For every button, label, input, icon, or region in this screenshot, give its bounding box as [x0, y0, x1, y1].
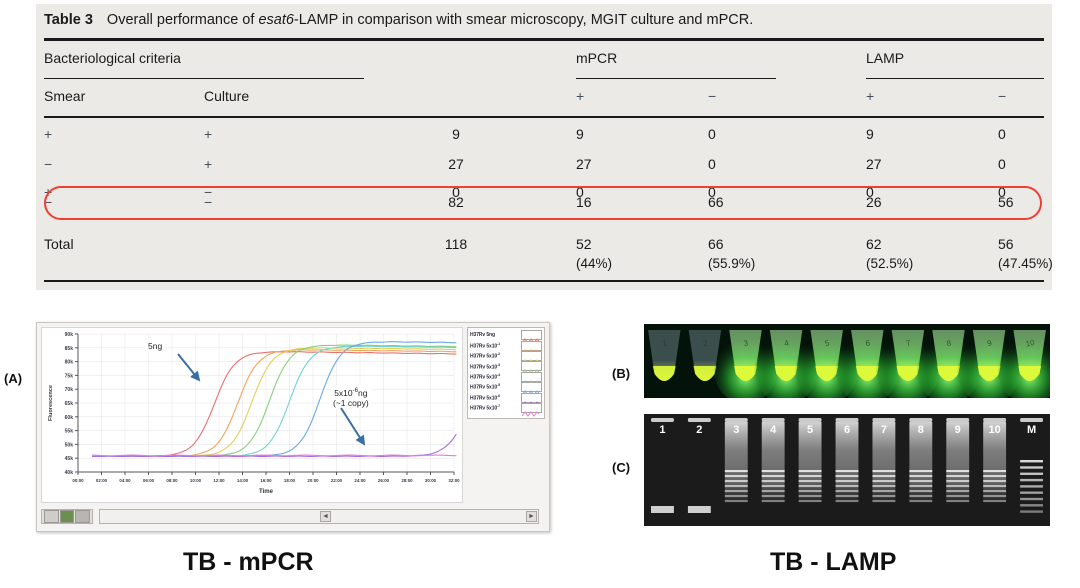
lamp-fluorescence-tubes-image: 12345678910: [644, 324, 1050, 398]
gel-lane-label: 4: [770, 424, 777, 436]
primer-band: [651, 506, 674, 513]
legend-label: H37Rv 5x10-6: [470, 394, 500, 402]
gel-band: [725, 480, 748, 482]
table-bottom-rule: [44, 280, 1044, 282]
cell-total: 9: [436, 126, 476, 142]
legend-item[interactable]: H37Rv 5x10-2: [470, 351, 542, 361]
gel-band: [799, 500, 822, 502]
gel-band: [762, 470, 785, 472]
legend-item[interactable]: H37Rv 5x10-7: [470, 403, 542, 413]
panel-c-label: (C): [612, 460, 630, 475]
gel-band: [946, 490, 969, 492]
total-lamp-positive-percent: (52.5%): [866, 256, 926, 271]
y-tick-label: 40k: [65, 470, 74, 476]
gel-band: [799, 485, 822, 487]
chart-horizontal-scrollbar[interactable]: ◄ ►: [99, 509, 539, 524]
column-header-lamp-positive: +: [866, 88, 926, 104]
caption-right-tb-lamp: TB - LAMP: [770, 548, 896, 577]
cell-total: 82: [436, 194, 476, 210]
panel-b-label: (B): [612, 366, 630, 381]
gel-band: [836, 495, 859, 497]
scrollbar-left-arrow[interactable]: ◄: [320, 511, 331, 522]
gel-well: [762, 418, 785, 422]
high-concentration-annotation: 5ng: [145, 340, 165, 352]
legend-label: H37Rv 5x10-4: [470, 373, 500, 381]
gel-band: [762, 495, 785, 497]
column-header-culture: Culture: [204, 88, 249, 104]
x-tick-label: 16:00: [260, 478, 272, 483]
gel-band: [909, 485, 932, 487]
legend-label: H37Rv 5ng: [470, 332, 495, 338]
ladder-band: [1020, 498, 1043, 500]
mpcr-group-rule: [576, 78, 776, 79]
panel-a-label: (A): [4, 371, 22, 386]
bacteriological-group-rule: [44, 78, 364, 79]
x-tick-label: 00:00: [72, 478, 84, 483]
ladder-band: [1020, 485, 1043, 487]
total-mpcr-positive-percent: (44%): [576, 256, 636, 271]
gel-band: [872, 495, 895, 497]
total-mpcr-positive: 52: [576, 236, 636, 252]
amplification-curves-svg: 40k45k50k55k60k65k70k75k80k85k90k00:0002…: [42, 328, 462, 502]
gel-band: [983, 485, 1006, 487]
column-header-mpcr-positive: +: [576, 88, 636, 104]
table-row-highlighted: − − 82 16 66 26 56: [36, 194, 1052, 220]
gel-well: [725, 418, 748, 422]
annotation-copy-line2: (~1 copy): [333, 398, 369, 408]
total-mpcr-negative-percent: (55.9%): [708, 256, 768, 271]
cursor-tool-icon[interactable]: [44, 510, 59, 523]
gel-band: [983, 480, 1006, 482]
gel-band: [872, 475, 895, 477]
single-copy-annotation: 5x10-6ng (~1 copy): [330, 385, 372, 409]
legend-color-swatch: [521, 403, 542, 413]
cell-mpcr-positive: 16: [576, 194, 636, 210]
gel-band: [946, 495, 969, 497]
total-lamp-positive: 62: [866, 236, 926, 252]
gel-band: [946, 475, 969, 477]
x-tick-label: 14:00: [237, 478, 249, 483]
chart-toolbar: ◄ ►: [41, 509, 547, 527]
gel-band: [762, 490, 785, 492]
amplification-curve: [92, 455, 456, 456]
gel-lane-label: 2: [696, 424, 702, 436]
cell-culture: +: [204, 156, 212, 172]
zoom-tool-icon[interactable]: [60, 510, 75, 523]
legend-item[interactable]: H37Rv 5x10-1: [470, 340, 542, 350]
x-tick-label: 30:00: [425, 478, 437, 483]
gel-lane-label: 1: [659, 424, 665, 436]
chart-tool-group[interactable]: [41, 509, 93, 524]
ladder-band: [1020, 473, 1043, 475]
total-count: 118: [436, 236, 476, 252]
legend-item[interactable]: H37Rv 5ng: [470, 330, 542, 340]
gel-well: [799, 418, 822, 422]
total-label: Total: [44, 236, 74, 252]
gel-well: [946, 418, 969, 422]
x-tick-label: 10:00: [190, 478, 202, 483]
gel-band: [909, 500, 932, 502]
legend-color-swatch: [521, 382, 542, 392]
group-header-mpcr: mPCR: [576, 50, 617, 66]
gel-band: [983, 475, 1006, 477]
gel-band: [762, 480, 785, 482]
x-tick-label: 24:00: [354, 478, 366, 483]
chart-legend: H37Rv 5ngH37Rv 5x10-1H37Rv 5x10-2H37Rv 5…: [467, 327, 545, 419]
cell-mpcr-negative: 0: [708, 126, 768, 142]
y-tick-label: 75k: [65, 373, 74, 379]
gel-band: [836, 470, 859, 472]
group-header-bacteriological: Bacteriological criteria: [44, 50, 181, 66]
y-tick-label: 55k: [65, 429, 74, 435]
y-tick-label: 70k: [65, 387, 74, 393]
cell-smear: +: [44, 126, 52, 142]
gel-band: [762, 485, 785, 487]
gel-band: [725, 500, 748, 502]
caption-italic-gene: esat6: [258, 12, 293, 28]
header-bottom-rule: [44, 116, 1044, 118]
caption-left-tb-mpcr: TB - mPCR: [183, 548, 314, 577]
gel-band: [725, 470, 748, 472]
gel-band: [946, 480, 969, 482]
gel-band: [725, 475, 748, 477]
agarose-gel-image: 12345678910M: [644, 414, 1050, 526]
ladder-band: [1020, 510, 1043, 512]
lamp-group-rule: [866, 78, 1044, 79]
ladder-band: [1020, 460, 1043, 462]
legend-color-swatch: [521, 330, 542, 340]
x-tick-label: 06:00: [143, 478, 155, 483]
total-lamp-negative-percent: (47.45%): [998, 256, 1058, 271]
legend-color-swatch: [521, 372, 542, 382]
table-row: − + 27 27 0 27 0: [36, 156, 1052, 182]
gel-band: [836, 485, 859, 487]
gel-band: [983, 500, 1006, 502]
gel-band: [872, 485, 895, 487]
y-tick-label: 90k: [65, 332, 74, 338]
gel-band: [836, 475, 859, 477]
y-tick-label: 60k: [65, 415, 74, 421]
legend-item[interactable]: H37Rv 5x10-4: [470, 372, 542, 382]
cell-culture: −: [204, 194, 212, 210]
legend-label: H37Rv 5x10-3: [470, 363, 500, 371]
table-number: Table 3: [44, 12, 93, 28]
cell-total: 27: [436, 156, 476, 172]
ladder-band: [1020, 504, 1043, 506]
cell-mpcr-negative: 0: [708, 156, 768, 172]
gel-well: [909, 418, 932, 422]
cell-lamp-positive: 9: [866, 126, 926, 142]
legend-label: H37Rv 5x10-7: [470, 404, 500, 412]
ladder-band: [1020, 492, 1043, 494]
total-mpcr-negative: 66: [708, 236, 768, 252]
y-tick-label: 65k: [65, 401, 74, 407]
gel-well: [872, 418, 895, 422]
caption-text-part1: Overall performance of: [107, 12, 259, 28]
gel-band: [799, 480, 822, 482]
gel-band: [799, 470, 822, 472]
gel-band: [946, 485, 969, 487]
y-tick-label: 45k: [65, 456, 74, 462]
y-tick-label: 80k: [65, 360, 74, 366]
legend-label: H37Rv 5x10-1: [470, 342, 500, 350]
ladder-band: [1020, 479, 1043, 481]
legend-color-swatch: [521, 341, 542, 351]
gel-lane-label: 6: [844, 424, 850, 436]
total-lamp-negative: 56: [998, 236, 1058, 252]
gel-band: [762, 475, 785, 477]
gel-band: [909, 470, 932, 472]
caption-text-part2: -LAMP in comparison with smear microscop…: [294, 12, 753, 28]
cell-mpcr-positive: 27: [576, 156, 636, 172]
gel-band: [872, 490, 895, 492]
qpcr-chart-window: 40k45k50k55k60k65k70k75k80k85k90k00:0002…: [36, 322, 550, 532]
table-top-rule: [44, 38, 1044, 41]
gel-band: [725, 495, 748, 497]
gel-lane-label: 8: [918, 424, 924, 436]
cell-lamp-negative: 56: [998, 194, 1058, 210]
column-header-smear: Smear: [44, 88, 85, 104]
legend-color-swatch: [521, 351, 542, 361]
cell-culture: +: [204, 126, 212, 142]
y-tick-label: 50k: [65, 442, 74, 448]
y-tick-label: 85k: [65, 346, 74, 352]
table-row: + + 9 9 0 9 0: [36, 126, 1052, 152]
gel-band: [799, 495, 822, 497]
annotation-copy-line1: 5x10-6ng: [333, 386, 369, 398]
legend-label: H37Rv 5x10-5: [470, 383, 500, 391]
tubes-svg: 12345678910: [644, 324, 1050, 398]
gel-band: [909, 495, 932, 497]
column-header-mpcr-negative: −: [708, 88, 768, 104]
x-tick-label: 02:00: [96, 478, 108, 483]
legend-item[interactable]: H37Rv 5x10-5: [470, 382, 542, 392]
cell-smear: −: [44, 194, 52, 210]
gel-band: [983, 470, 1006, 472]
x-tick-label: 20:00: [307, 478, 319, 483]
gel-band: [983, 490, 1006, 492]
x-tick-label: 28:00: [401, 478, 413, 483]
group-header-lamp: LAMP: [866, 50, 904, 66]
gel-band: [836, 490, 859, 492]
cell-lamp-positive: 26: [866, 194, 926, 210]
gel-band: [836, 500, 859, 502]
table-caption: Table 3 Overall performance of esat6-LAM…: [44, 12, 1044, 28]
cell-lamp-negative: 0: [998, 156, 1058, 172]
cell-smear: −: [44, 156, 52, 172]
gel-band: [872, 470, 895, 472]
gel-band: [836, 480, 859, 482]
x-tick-label: 04:00: [119, 478, 131, 483]
pan-tool-icon[interactable]: [75, 510, 90, 523]
gel-well: [983, 418, 1006, 422]
x-tick-label: 32:00: [448, 478, 460, 483]
gel-lane-label: 9: [955, 424, 961, 436]
x-tick-label: 12:00: [213, 478, 225, 483]
gel-band: [909, 490, 932, 492]
gel-band: [799, 475, 822, 477]
gel-lane-label: 3: [733, 424, 739, 436]
primer-band: [688, 506, 711, 513]
legend-color-swatch: [521, 361, 542, 371]
x-tick-label: 08:00: [166, 478, 178, 483]
gel-band: [872, 480, 895, 482]
gel-band: [909, 475, 932, 477]
annotation-5ng-text: 5ng: [148, 341, 162, 351]
legend-color-swatch: [521, 393, 542, 403]
gel-lane-label: 10: [989, 424, 1001, 436]
cell-mpcr-negative: 66: [708, 194, 768, 210]
gel-well: [651, 418, 674, 422]
gel-well: [836, 418, 859, 422]
x-tick-label: 18:00: [284, 478, 296, 483]
cell-lamp-positive: 27: [866, 156, 926, 172]
gel-lane-label: 5: [807, 424, 813, 436]
x-axis-label: Time: [259, 489, 274, 495]
table-3-container: Table 3 Overall performance of esat6-LAM…: [36, 4, 1052, 290]
gel-band: [946, 500, 969, 502]
x-tick-label: 22:00: [331, 478, 343, 483]
gel-band: [762, 500, 785, 502]
legend-item[interactable]: H37Rv 5x10-6: [470, 392, 542, 402]
column-header-lamp-negative: −: [998, 88, 1058, 104]
y-axis-label: Fluorescence: [48, 385, 54, 421]
legend-item[interactable]: H37Rv 5x10-3: [470, 361, 542, 371]
gel-lane-label: 7: [881, 424, 887, 436]
gel-lane-label: M: [1027, 424, 1036, 436]
gel-band: [725, 490, 748, 492]
cell-mpcr-positive: 9: [576, 126, 636, 142]
legend-label: H37Rv 5x10-2: [470, 352, 500, 360]
gel-band: [799, 490, 822, 492]
gel-band: [725, 485, 748, 487]
gel-band: [872, 500, 895, 502]
ladder-band: [1020, 466, 1043, 468]
scrollbar-right-arrow[interactable]: ►: [526, 511, 537, 522]
cell-lamp-negative: 0: [998, 126, 1058, 142]
x-tick-label: 26:00: [378, 478, 390, 483]
gel-svg: 12345678910M: [644, 414, 1050, 526]
gel-well: [688, 418, 711, 422]
gel-well: [1020, 418, 1043, 422]
gel-band: [946, 470, 969, 472]
qpcr-plot-area: 40k45k50k55k60k65k70k75k80k85k90k00:0002…: [41, 327, 463, 503]
gel-band: [983, 495, 1006, 497]
gel-band: [909, 480, 932, 482]
